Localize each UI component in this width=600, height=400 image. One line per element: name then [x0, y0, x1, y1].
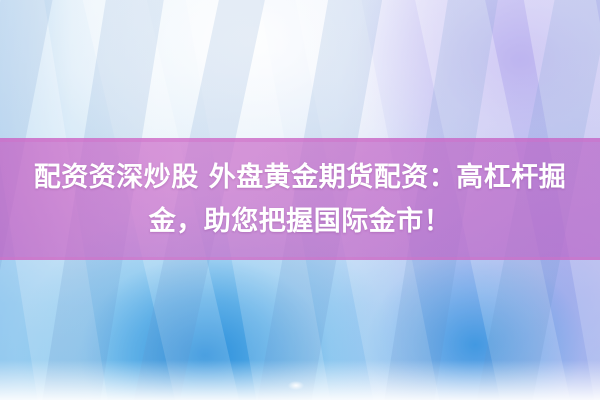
headline-band-bottom-edge [0, 257, 600, 260]
promo-banner: 配资资深炒股 外盘黄金期货配资：高杠杆掘金，助您把握国际金市！ [0, 0, 600, 400]
banner-headline: 配资资深炒股 外盘黄金期货配资：高杠杆掘金，助您把握国际金市！ [0, 156, 600, 244]
highlight-glint [288, 381, 304, 390]
headline-band-top-edge [0, 138, 600, 142]
